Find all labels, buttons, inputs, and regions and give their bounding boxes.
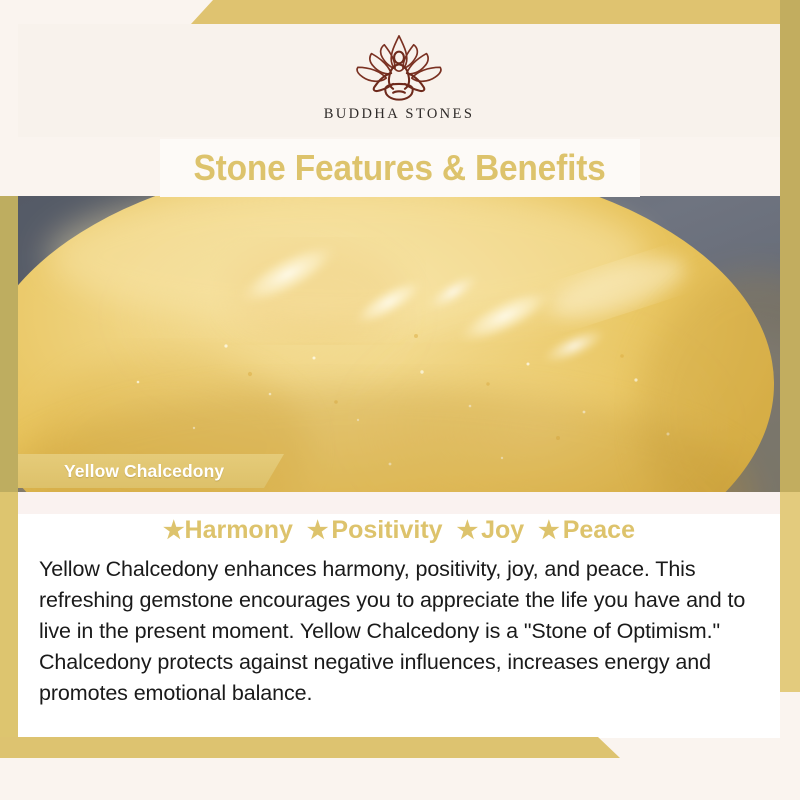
lotus-meditation-icon (350, 32, 448, 104)
brand-header: BUDDHA STONES (18, 24, 780, 137)
benefit-item-harmony: ★ Harmony (163, 516, 293, 545)
poster-canvas: BUDDHA STONES Stone Features & Benefits (0, 0, 800, 800)
star-icon: ★ (538, 519, 560, 543)
benefit-item-joy: ★ Joy (457, 516, 525, 545)
benefits-row: ★ Harmony ★ Positivity ★ Joy ★ Peace (18, 516, 780, 545)
benefit-label: Harmony (185, 516, 293, 545)
stone-name-label: Yellow Chalcedony (18, 461, 224, 482)
benefit-item-peace: ★ Peace (538, 516, 635, 545)
benefit-item-positivity: ★ Positivity (307, 516, 443, 545)
page-title: Stone Features & Benefits (194, 147, 606, 189)
stone-name-badge: Yellow Chalcedony (18, 454, 284, 488)
decor-gold-band-bottom (0, 737, 620, 758)
content-panel: ★ Harmony ★ Positivity ★ Joy ★ Peace Yel… (18, 492, 780, 738)
benefit-label: Peace (563, 516, 635, 545)
stone-description: Yellow Chalcedony enhances harmony, posi… (39, 554, 761, 709)
decor-gold-band-top (0, 0, 800, 24)
decor-gold-band-right-lower (780, 492, 800, 692)
star-icon: ★ (163, 519, 185, 543)
brand-name: BUDDHA STONES (324, 106, 475, 123)
star-icon: ★ (307, 519, 329, 543)
benefit-label: Joy (481, 516, 524, 545)
title-banner: Stone Features & Benefits (160, 139, 640, 197)
benefit-label: Positivity (331, 516, 442, 545)
content-top-divider (18, 492, 780, 514)
decor-gold-band-left-upper (0, 196, 18, 492)
product-photo (18, 196, 780, 492)
star-icon: ★ (457, 519, 479, 543)
